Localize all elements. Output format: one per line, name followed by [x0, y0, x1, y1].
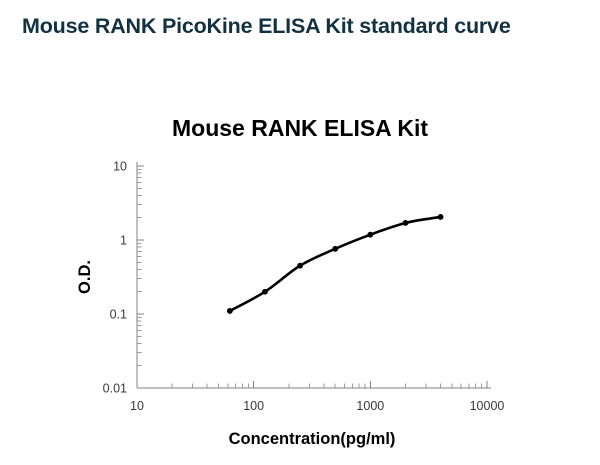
chart-plot-area: 101001000100001010.10.01Concentration(pg…: [0, 95, 600, 465]
data-point-4: [367, 232, 373, 238]
y-tick-label: 10: [113, 160, 127, 174]
y-axis-title: O.D.: [76, 260, 94, 294]
x-axis-title: Concentration(pg/ml): [229, 430, 396, 448]
x-tick-label: 10: [130, 399, 144, 413]
standard-curve-chart: Mouse RANK ELISA Kit 101001000100001010.…: [0, 95, 600, 465]
data-point-1: [262, 289, 268, 295]
data-point-2: [297, 263, 303, 269]
x-tick-label: 10000: [470, 399, 505, 413]
data-point-3: [332, 246, 338, 252]
page-title: Mouse RANK PicoKine ELISA Kit standard c…: [22, 14, 511, 39]
data-point-6: [438, 214, 444, 220]
y-tick-label: 1: [120, 234, 127, 248]
x-tick-label: 100: [243, 399, 264, 413]
x-tick-label: 1000: [356, 399, 384, 413]
standard-curve-line: [230, 217, 441, 311]
y-tick-label: 0.1: [110, 308, 127, 322]
data-point-5: [403, 220, 409, 226]
data-point-0: [227, 308, 233, 314]
y-tick-label: 0.01: [103, 382, 127, 396]
